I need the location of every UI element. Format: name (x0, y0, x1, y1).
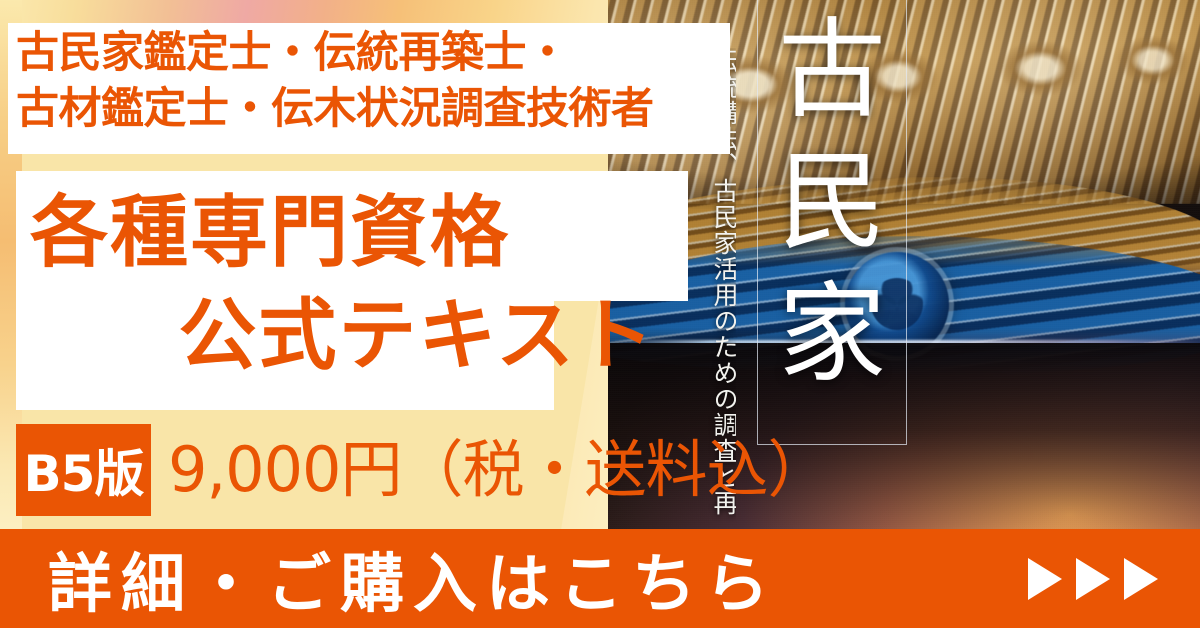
price-text: 9,000円（税・送料込） (168, 426, 829, 514)
cta-bar[interactable]: 詳細・ご購入はこちら (0, 529, 1200, 628)
triangle-right-icon (1028, 558, 1062, 600)
cta-label: 詳細・ご購入はこちら (48, 533, 778, 625)
triangle-right-icon (1124, 558, 1158, 600)
headline-text: 各種専門資格 公式テキスト (18, 182, 680, 388)
format-badge: B5版 (16, 424, 151, 516)
headline-line-1: 各種専門資格 (18, 182, 680, 285)
qualifications-text: 古民家鑑定士・伝統再築士・ 古材鑑定士・伝木状況調査技術者 (16, 26, 722, 138)
promo-banner: 古 民 家 伝統構法、古民家活用のための調査と再生の 古民家鑑定士・伝統再築士・… (0, 0, 1200, 628)
triangle-right-icon (1076, 558, 1110, 600)
cta-arrows (1028, 558, 1158, 600)
headline-line-2: 公式テキスト (18, 285, 680, 388)
book-cover-title: 古 民 家 (757, 6, 907, 446)
